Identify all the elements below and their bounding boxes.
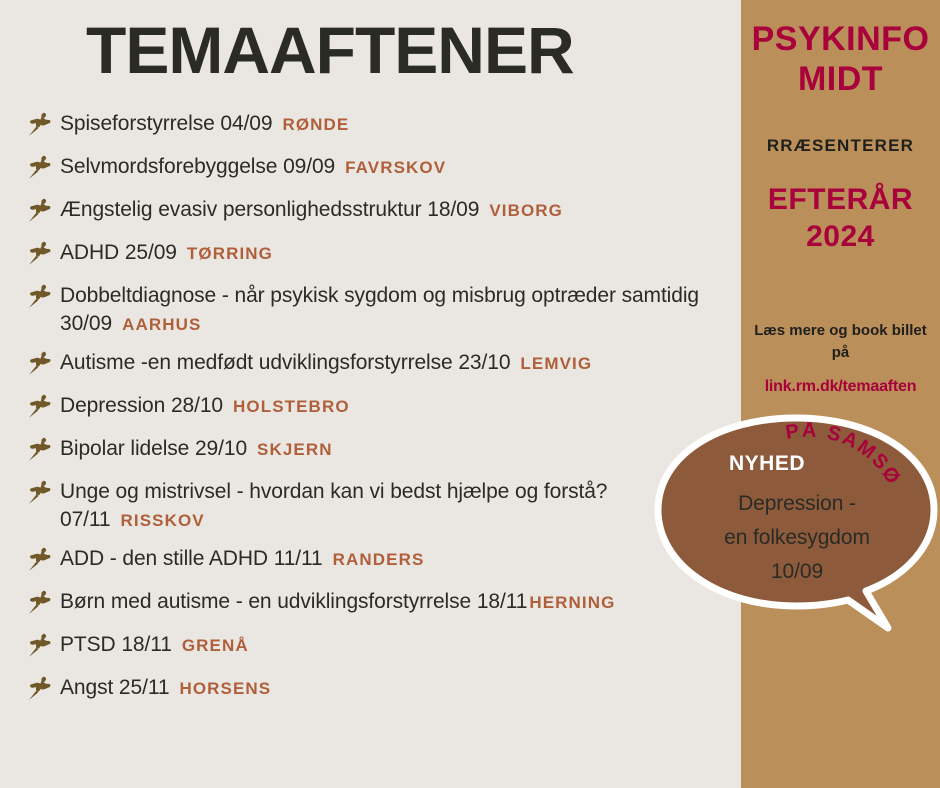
event-text: ADHD 25/09TØRRING (60, 237, 273, 267)
pushpin-icon (24, 435, 54, 465)
event-text: ADD - den stille ADHD 11/11RANDERS (60, 543, 424, 573)
pushpin-icon (24, 478, 54, 508)
pushpin-icon (24, 674, 54, 704)
pushpin-icon (24, 478, 54, 508)
event-city: VIBORG (489, 201, 563, 220)
event-list: Spiseforstyrrelse 04/09RØNDE Selvmordsfo… (24, 108, 744, 715)
pushpin-icon (24, 153, 54, 183)
event-list-item[interactable]: ADHD 25/09TØRRING (24, 237, 744, 271)
event-title: Børn med autisme - en udviklingsforstyrr… (60, 590, 527, 613)
booking-link[interactable]: link.rm.dk/temaaften (741, 378, 940, 396)
pushpin-icon (24, 588, 54, 618)
pushpin-icon (24, 631, 54, 661)
booking-info-text: Læs mere og book billet på (749, 320, 932, 364)
event-text: Selvmordsforebyggelse 09/09FAVRSKOV (60, 151, 446, 181)
event-city: AARHUS (122, 315, 201, 334)
event-city: HERNING (529, 593, 615, 612)
event-list-item[interactable]: PTSD 18/11GRENÅ (24, 629, 744, 663)
pushpin-icon (24, 349, 54, 379)
presents-label: RRÆSENTERER (741, 136, 940, 156)
pushpin-icon (24, 196, 54, 226)
pushpin-icon (24, 435, 54, 465)
event-title: Depression 28/10 (60, 394, 223, 417)
event-text: Spiseforstyrrelse 04/09RØNDE (60, 108, 349, 138)
event-text: Bipolar lidelse 29/10SKJERN (60, 433, 333, 463)
event-city: SKJERN (257, 440, 333, 459)
event-text: Angst 25/11HORSENS (60, 672, 271, 702)
pushpin-icon (24, 674, 54, 704)
pushpin-icon (24, 196, 54, 226)
event-title: ADD - den stille ADHD 11/11 (60, 547, 323, 570)
pushpin-icon (24, 392, 54, 422)
event-list-item[interactable]: Selvmordsforebyggelse 09/09FAVRSKOV (24, 151, 744, 185)
news-speech-bubble[interactable]: NYHED Depression - en folkesygdom 10/09 … (652, 414, 940, 644)
event-text: Depression 28/10HOLSTEBRO (60, 390, 350, 420)
event-list-item[interactable]: Angst 25/11HORSENS (24, 672, 744, 706)
event-city: FAVRSKOV (345, 158, 446, 177)
event-list-item[interactable]: ADD - den stille ADHD 11/11RANDERS (24, 543, 744, 577)
event-city: LEMVIG (520, 354, 592, 373)
event-city: TØRRING (187, 244, 273, 263)
event-list-item[interactable]: Ængstelig evasiv personlighedsstruktur 1… (24, 194, 744, 228)
pushpin-icon (24, 282, 54, 312)
event-title: ADHD 25/09 (60, 241, 177, 264)
event-title: Angst 25/11 (60, 676, 169, 699)
event-city: RANDERS (333, 550, 425, 569)
event-city: HOLSTEBRO (233, 397, 350, 416)
event-city: RISSKOV (121, 511, 205, 530)
event-list-item[interactable]: Autisme -en medfødt udviklingsforstyrrel… (24, 347, 744, 381)
page-title: TEMAAFTENER (86, 12, 574, 88)
event-text: Autisme -en medfødt udviklingsforstyrrel… (60, 347, 592, 377)
event-city: HORSENS (179, 679, 271, 698)
brand-title-line1: PSYKINFO (741, 22, 940, 56)
event-list-item[interactable]: Unge og mistrivsel - hvordan kan vi beds… (24, 476, 744, 534)
sidebar-panel: PSYKINFO MIDT RRÆSENTERER EFTERÅR 2024 L… (741, 0, 940, 788)
event-text: Dobbeltdiagnose - når psykisk sygdom og … (60, 280, 744, 338)
event-list-item[interactable]: Børn med autisme - en udviklingsforstyrr… (24, 586, 744, 620)
pushpin-icon (24, 631, 54, 661)
event-title: Ængstelig evasiv personlighedsstruktur 1… (60, 198, 479, 221)
pushpin-icon (24, 110, 54, 140)
event-title: PTSD 18/11 (60, 633, 172, 656)
pushpin-icon (24, 239, 54, 269)
svg-text:PÅ SAMSØ: PÅ SAMSØ (784, 422, 905, 490)
season-year: 2024 (741, 222, 940, 252)
event-title: Bipolar lidelse 29/10 (60, 437, 247, 460)
event-text: Unge og mistrivsel - hvordan kan vi beds… (60, 476, 744, 534)
event-city: GRENÅ (182, 636, 249, 655)
pushpin-icon (24, 349, 54, 379)
event-city: RØNDE (282, 115, 349, 134)
pa-samso-arc-text: PÅ SAMSØ (780, 422, 940, 512)
pushpin-icon (24, 545, 54, 575)
event-list-item[interactable]: Bipolar lidelse 29/10SKJERN (24, 433, 744, 467)
event-list-item[interactable]: Depression 28/10HOLSTEBRO (24, 390, 744, 424)
season-label: EFTERÅR (741, 185, 940, 215)
event-title: Autisme -en medfødt udviklingsforstyrrel… (60, 351, 510, 374)
pushpin-icon (24, 153, 54, 183)
pushpin-icon (24, 392, 54, 422)
event-title: Spiseforstyrrelse 04/09 (60, 112, 272, 135)
pushpin-icon (24, 239, 54, 269)
poster-canvas: PSYKINFO MIDT RRÆSENTERER EFTERÅR 2024 L… (0, 0, 940, 788)
pushpin-icon (24, 282, 54, 312)
event-list-item[interactable]: Spiseforstyrrelse 04/09RØNDE (24, 108, 744, 142)
event-text: Ængstelig evasiv personlighedsstruktur 1… (60, 194, 563, 224)
event-title: Selvmordsforebyggelse 09/09 (60, 155, 335, 178)
brand-title-line2: MIDT (741, 62, 940, 96)
event-text: Børn med autisme - en udviklingsforstyrr… (60, 586, 615, 616)
pushpin-icon (24, 545, 54, 575)
pushpin-icon (24, 110, 54, 140)
event-list-item[interactable]: Dobbeltdiagnose - når psykisk sygdom og … (24, 280, 744, 338)
event-text: PTSD 18/11GRENÅ (60, 629, 249, 659)
pushpin-icon (24, 588, 54, 618)
